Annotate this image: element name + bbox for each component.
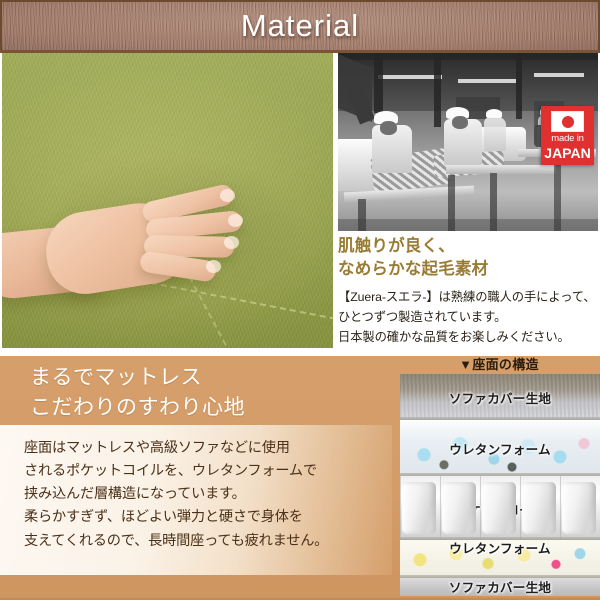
made-in-japan-badge: made in JAPAN: [541, 106, 594, 165]
factory-column: [434, 53, 441, 127]
coil-cell: [522, 482, 556, 534]
layer-label: ソファカバー生地: [449, 577, 551, 596]
ceiling-lamp: [378, 75, 442, 79]
hand-illustration: [2, 173, 239, 293]
diagram-layer-urethane-foam-bottom: ウレタンフォーム: [400, 540, 600, 578]
comfort-section: まるでマットレス こだわりのすわり心地 座面はマットレスや高級ソファなどに使用 …: [0, 356, 600, 600]
factory-worker: [484, 117, 506, 151]
layer-label: ソファカバー生地: [449, 388, 551, 407]
badge-made-label: made in: [541, 134, 594, 144]
factory-column: [374, 53, 383, 113]
header-banner: Material: [0, 0, 600, 50]
page-title: Material: [241, 10, 359, 41]
material-body-line: 日本製の確かな品質をお楽しみください。: [338, 327, 596, 347]
layer-label: ウレタンフォーム: [449, 439, 551, 458]
diagram-layer-urethane-foam-top: ウレタンフォーム: [400, 420, 600, 476]
factory-floor: [338, 219, 598, 231]
material-heading-line: 肌触りが良く、: [338, 235, 596, 258]
material-body-line: 【Zuera-スエラ-】は熟練の職人の手によって、: [338, 287, 596, 307]
japan-flag-icon: [551, 111, 584, 132]
material-body-line: ひとつずつ製造されています。: [338, 307, 596, 327]
factory-column: [516, 53, 522, 119]
material-heading: 肌触りが良く、 なめらかな起毛素材: [338, 235, 596, 282]
coil-cell: [442, 482, 476, 534]
section-divider: [0, 348, 600, 356]
material-product-panel: Material: [0, 0, 600, 600]
ceiling-lamp: [534, 73, 584, 77]
comfort-headline: まるでマットレス こだわりのすわり心地: [30, 363, 245, 424]
diagram-layer-sofa-cover-top: ソファカバー生地: [400, 374, 600, 420]
coil-cell: [402, 482, 436, 534]
comfort-headline-line: こだわりのすわり心地: [30, 393, 245, 423]
comfort-body-line: 支えてくれるので、長時間座っても疲れません。: [24, 530, 374, 553]
fingernail: [220, 189, 235, 202]
fingernail: [228, 214, 243, 227]
diagram-title: ▼座面の構造: [400, 356, 598, 373]
coil-cell: [482, 482, 516, 534]
seat-structure-diagram: ソファカバー生地 ウレタンフォーム ポケットコイル ウレタンフォーム: [400, 374, 600, 596]
badge-country-label: JAPAN: [541, 146, 594, 160]
fingernail: [206, 260, 221, 273]
comfort-body-card: 座面はマットレスや高級ソファなどに使用 されるポケットコイルを、ウレタンフォーム…: [0, 425, 392, 575]
comfort-body-line: 柔らかすぎず、ほどよい弾力と硬さで身体を: [24, 506, 374, 529]
material-description-block: 肌触りが良く、 なめらかな起毛素材 【Zuera-スエラ-】は熟練の職人の手によ…: [338, 235, 596, 348]
comfort-body-line: 挟み込んだ層構造になっています。: [24, 483, 374, 506]
layer-label: ウレタンフォーム: [449, 538, 551, 557]
comfort-body-line: 座面はマットレスや高級ソファなどに使用: [24, 437, 374, 460]
fingernail: [224, 236, 239, 249]
worker-face: [380, 121, 397, 135]
comfort-body-line: されるポケットコイルを、ウレタンフォームで: [24, 460, 374, 483]
top-photo-row: made in JAPAN 肌触りが良く、 なめらかな起毛素材 【Zuera-ス…: [0, 53, 600, 348]
diagram-layer-sofa-cover-bottom: ソファカバー生地: [400, 578, 600, 596]
worker-cap: [486, 109, 502, 118]
work-table: [446, 165, 556, 174]
flag-sun-disc: [562, 116, 574, 128]
diagram-layer-pocket-coil: ポケットコイル: [400, 476, 600, 540]
comfort-headline-line: まるでマットレス: [30, 363, 245, 393]
fabric-photo: [2, 53, 333, 348]
material-body: 【Zuera-スエラ-】は熟練の職人の手によって、 ひとつずつ製造されています。…: [338, 287, 596, 348]
ceiling-lamp: [458, 79, 516, 83]
coil-cell: [562, 482, 596, 534]
comfort-body-text: 座面はマットレスや高級ソファなどに使用 されるポケットコイルを、ウレタンフォーム…: [24, 437, 374, 553]
worker-face: [452, 116, 468, 129]
material-heading-line: なめらかな起毛素材: [338, 258, 596, 281]
